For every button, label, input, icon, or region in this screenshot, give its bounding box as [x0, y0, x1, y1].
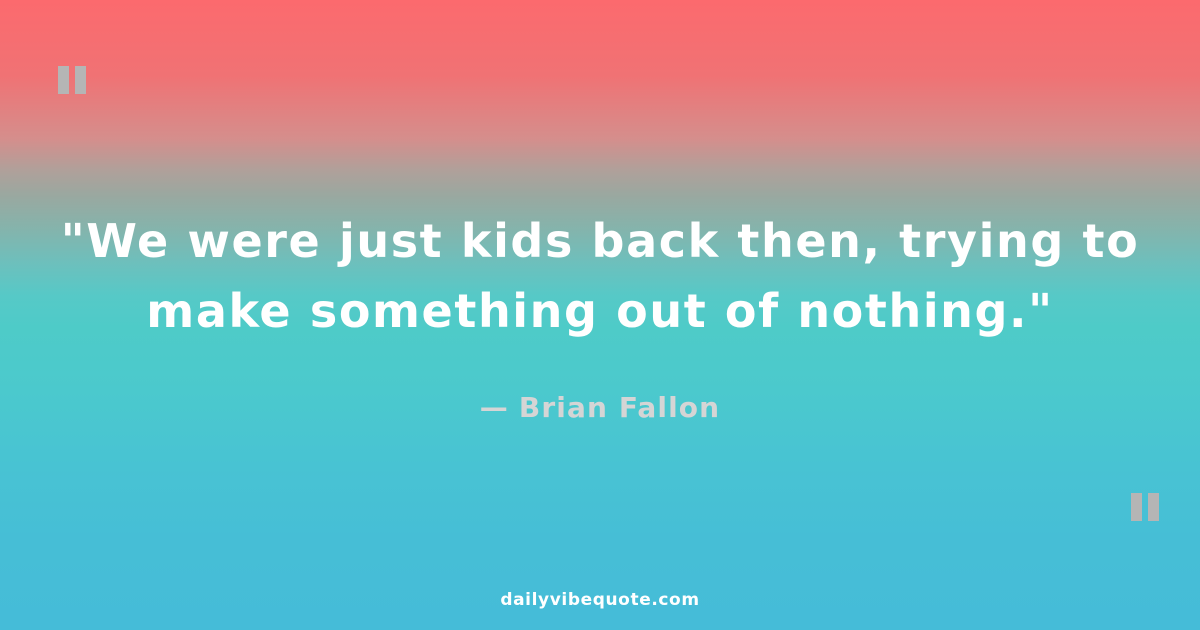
quote-text: "We were just kids back then, trying to … [60, 206, 1140, 346]
attribution-dash: — [480, 391, 509, 424]
quote-attribution: —Brian Fallon [480, 391, 720, 424]
quote-mark-icon-bottom-right [1131, 493, 1159, 521]
footer-site-url: dailyvibequote.com [0, 590, 1200, 610]
attribution-author: Brian Fallon [519, 391, 720, 424]
quote-bar-right [1148, 493, 1159, 521]
quote-bar-left [1131, 493, 1142, 521]
quote-card: "We were just kids back then, trying to … [0, 0, 1200, 630]
quote-content: "We were just kids back then, trying to … [0, 0, 1200, 630]
